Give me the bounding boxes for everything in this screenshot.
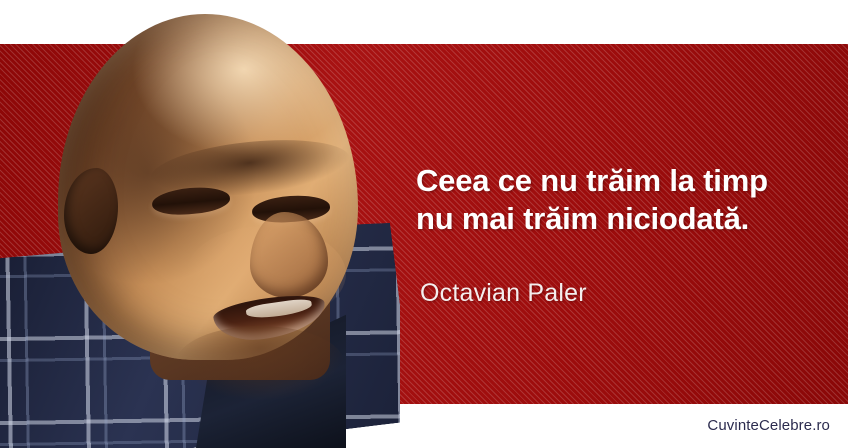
- quote-text: Ceea ce nu trăim la timp nu mai trăim ni…: [416, 162, 832, 238]
- portrait-image: [0, 0, 400, 448]
- author-name: Octavian Paler: [420, 278, 587, 308]
- quote-card: Ceea ce nu trăim la timp nu mai trăim ni…: [0, 0, 848, 448]
- quote-line-1: Ceea ce nu trăim la timp: [416, 162, 832, 200]
- quote-line-2: nu mai trăim niciodată.: [416, 200, 832, 238]
- jaw-shadow: [176, 326, 344, 400]
- site-watermark: CuvinteCelebre.ro: [707, 417, 830, 434]
